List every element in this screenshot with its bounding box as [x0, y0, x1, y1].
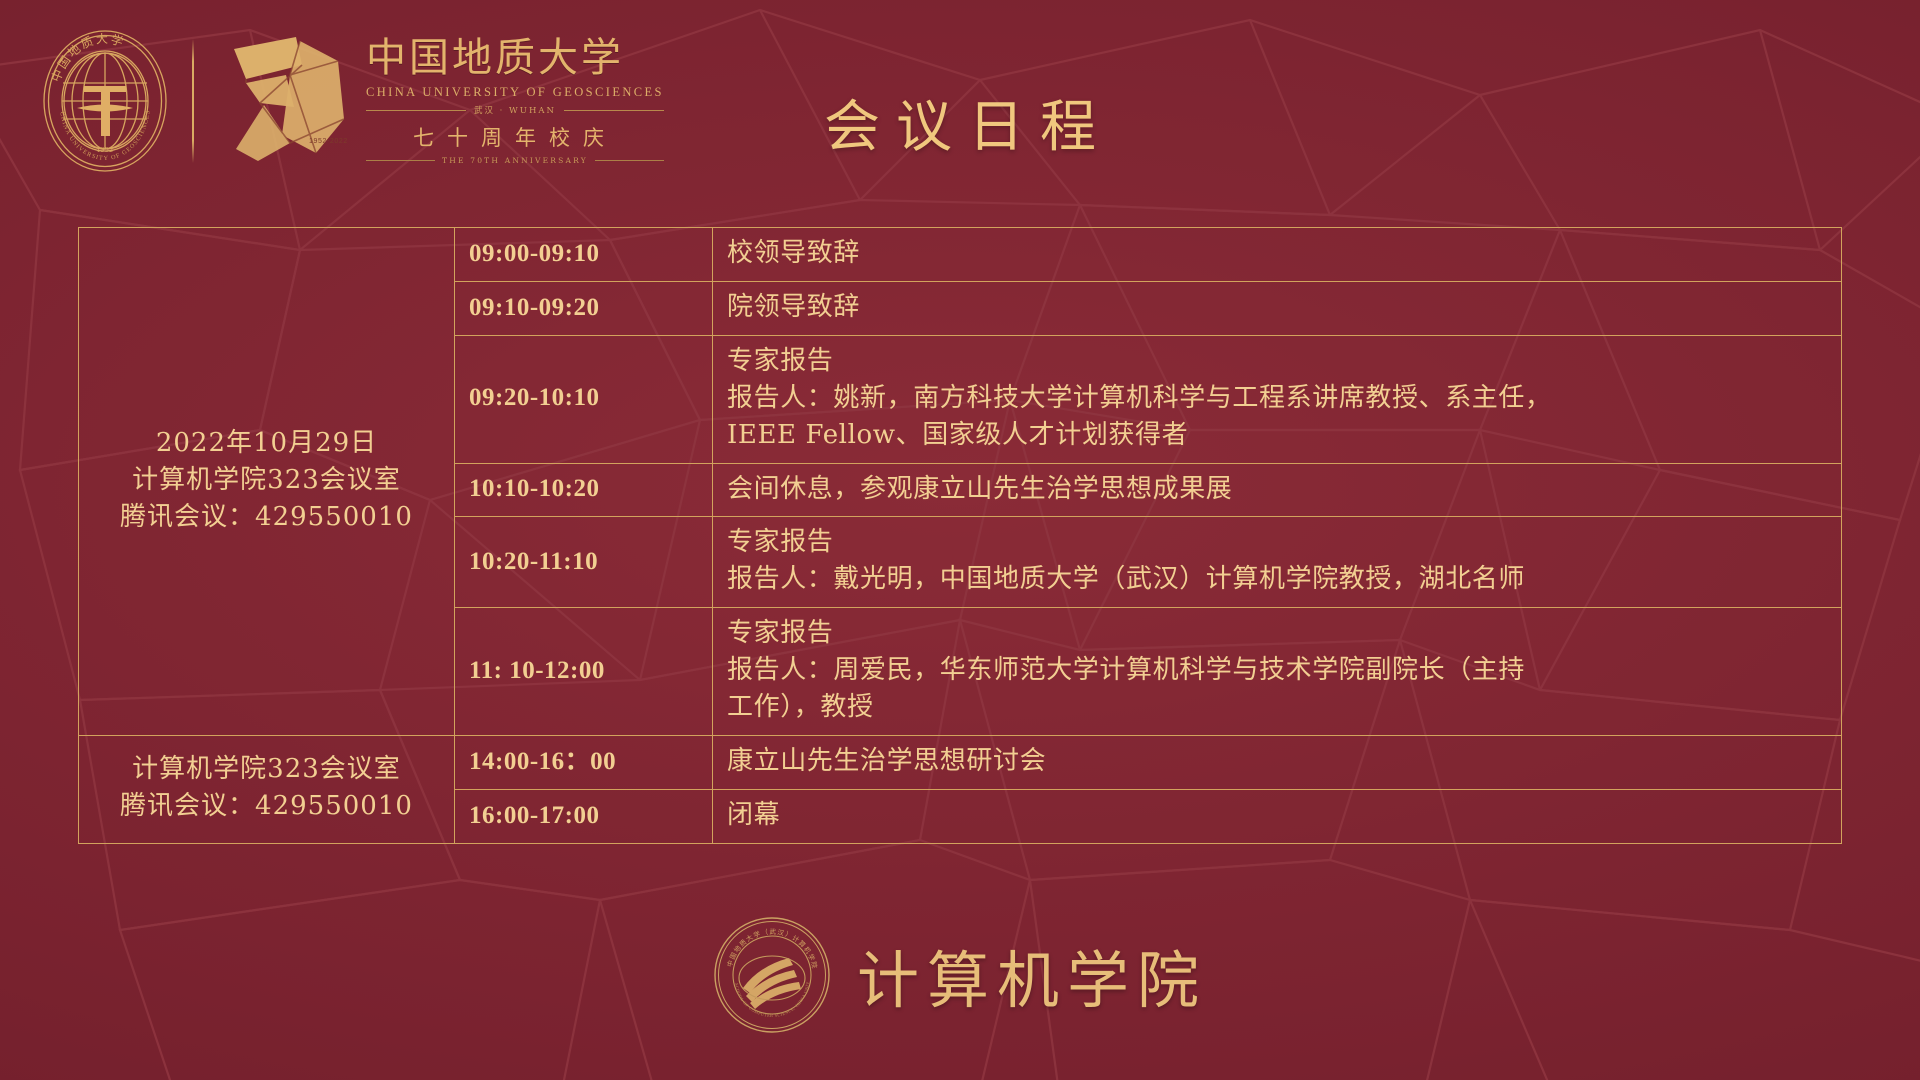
morning-venue-cell: 2022年10月29日 计算机学院323会议室 腾讯会议：429550010 [79, 228, 455, 736]
afternoon-venue-cell: 计算机学院323会议室 腾讯会议：429550010 [79, 735, 455, 843]
time-cell: 16:00-17:00 [455, 789, 713, 843]
item-cell: 会间休息，参观康立山先生治学思想成果展 [713, 463, 1842, 517]
time-cell: 10:20-11:10 [455, 517, 713, 608]
item-line: 校领导致辞 [727, 235, 1827, 272]
slide-footer: 中国地质大学（武汉）计算机学院 SCHOOL OF COMPUTER SCIEN… [0, 916, 1920, 1034]
agenda-table: 2022年10月29日 计算机学院323会议室 腾讯会议：429550010 0… [78, 227, 1842, 844]
time-cell: 10:10-10:20 [455, 463, 713, 517]
table-row: 计算机学院323会议室 腾讯会议：429550010 14:00-16：00 康… [79, 735, 1842, 789]
item-cell: 闭幕 [713, 789, 1842, 843]
time-cell: 09:20-10:10 [455, 335, 713, 463]
item-line: 会间休息，参观康立山先生治学思想成果展 [727, 471, 1827, 508]
item-cell: 专家报告 报告人：姚新，南方科技大学计算机科学与工程系讲席教授、系主任， IEE… [713, 335, 1842, 463]
table-row: 2022年10月29日 计算机学院323会议室 腾讯会议：429550010 0… [79, 228, 1842, 282]
item-line: 报告人：周爱民，华东师范大学计算机科学与技术学院副院长（主持 [727, 652, 1827, 689]
slide-canvas: 中国地质大学 CHINA UNIVERSITY OF GEOSCIENCES 1… [0, 0, 1920, 1080]
item-line: 工作），教授 [727, 689, 1827, 726]
item-cell: 专家报告 报告人：周爱民，华东师范大学计算机科学与技术学院副院长（主持 工作），… [713, 608, 1842, 736]
school-name-label: 计算机学院 [857, 930, 1207, 1020]
agenda-table-container: 2022年10月29日 计算机学院323会议室 腾讯会议：429550010 0… [78, 227, 1842, 844]
item-line: 报告人：戴光明，中国地质大学（武汉）计算机学院教授，湖北名师 [727, 561, 1827, 598]
time-cell: 09:10-09:20 [455, 281, 713, 335]
item-line: 专家报告 [727, 343, 1827, 380]
item-line: 专家报告 [727, 524, 1827, 561]
venue-line: 计算机学院323会议室 [132, 465, 401, 495]
school-of-computer-science-seal-icon: 中国地质大学（武汉）计算机学院 SCHOOL OF COMPUTER SCIEN… [713, 916, 831, 1034]
item-line: IEEE Fellow、国家级人才计划获得者 [727, 417, 1827, 454]
item-line: 报告人：姚新，南方科技大学计算机科学与工程系讲席教授、系主任， [727, 380, 1827, 417]
item-cell: 康立山先生治学思想研讨会 [713, 735, 1842, 789]
item-cell: 校领导致辞 [713, 228, 1842, 282]
venue-line: 腾讯会议：429550010 [120, 502, 413, 532]
time-cell: 11: 10-12:00 [455, 608, 713, 736]
venue-line: 腾讯会议：429550010 [120, 791, 413, 821]
slide-header: 中国地质大学 CHINA UNIVERSITY OF GEOSCIENCES 1… [0, 0, 1920, 210]
item-line: 闭幕 [727, 797, 1827, 834]
item-cell: 院领导致辞 [713, 281, 1842, 335]
item-line: 专家报告 [727, 615, 1827, 652]
page-title: 会议日程 [0, 82, 1920, 163]
item-line: 康立山先生治学思想研讨会 [727, 743, 1827, 780]
venue-line: 计算机学院323会议室 [132, 754, 401, 784]
time-cell: 14:00-16：00 [455, 735, 713, 789]
item-line: 院领导致辞 [727, 289, 1827, 326]
item-cell: 专家报告 报告人：戴光明，中国地质大学（武汉）计算机学院教授，湖北名师 [713, 517, 1842, 608]
university-name-cn: 中国地质大学 [366, 37, 664, 79]
venue-line: 2022年10月29日 [156, 428, 377, 458]
time-cell: 09:00-09:10 [455, 228, 713, 282]
